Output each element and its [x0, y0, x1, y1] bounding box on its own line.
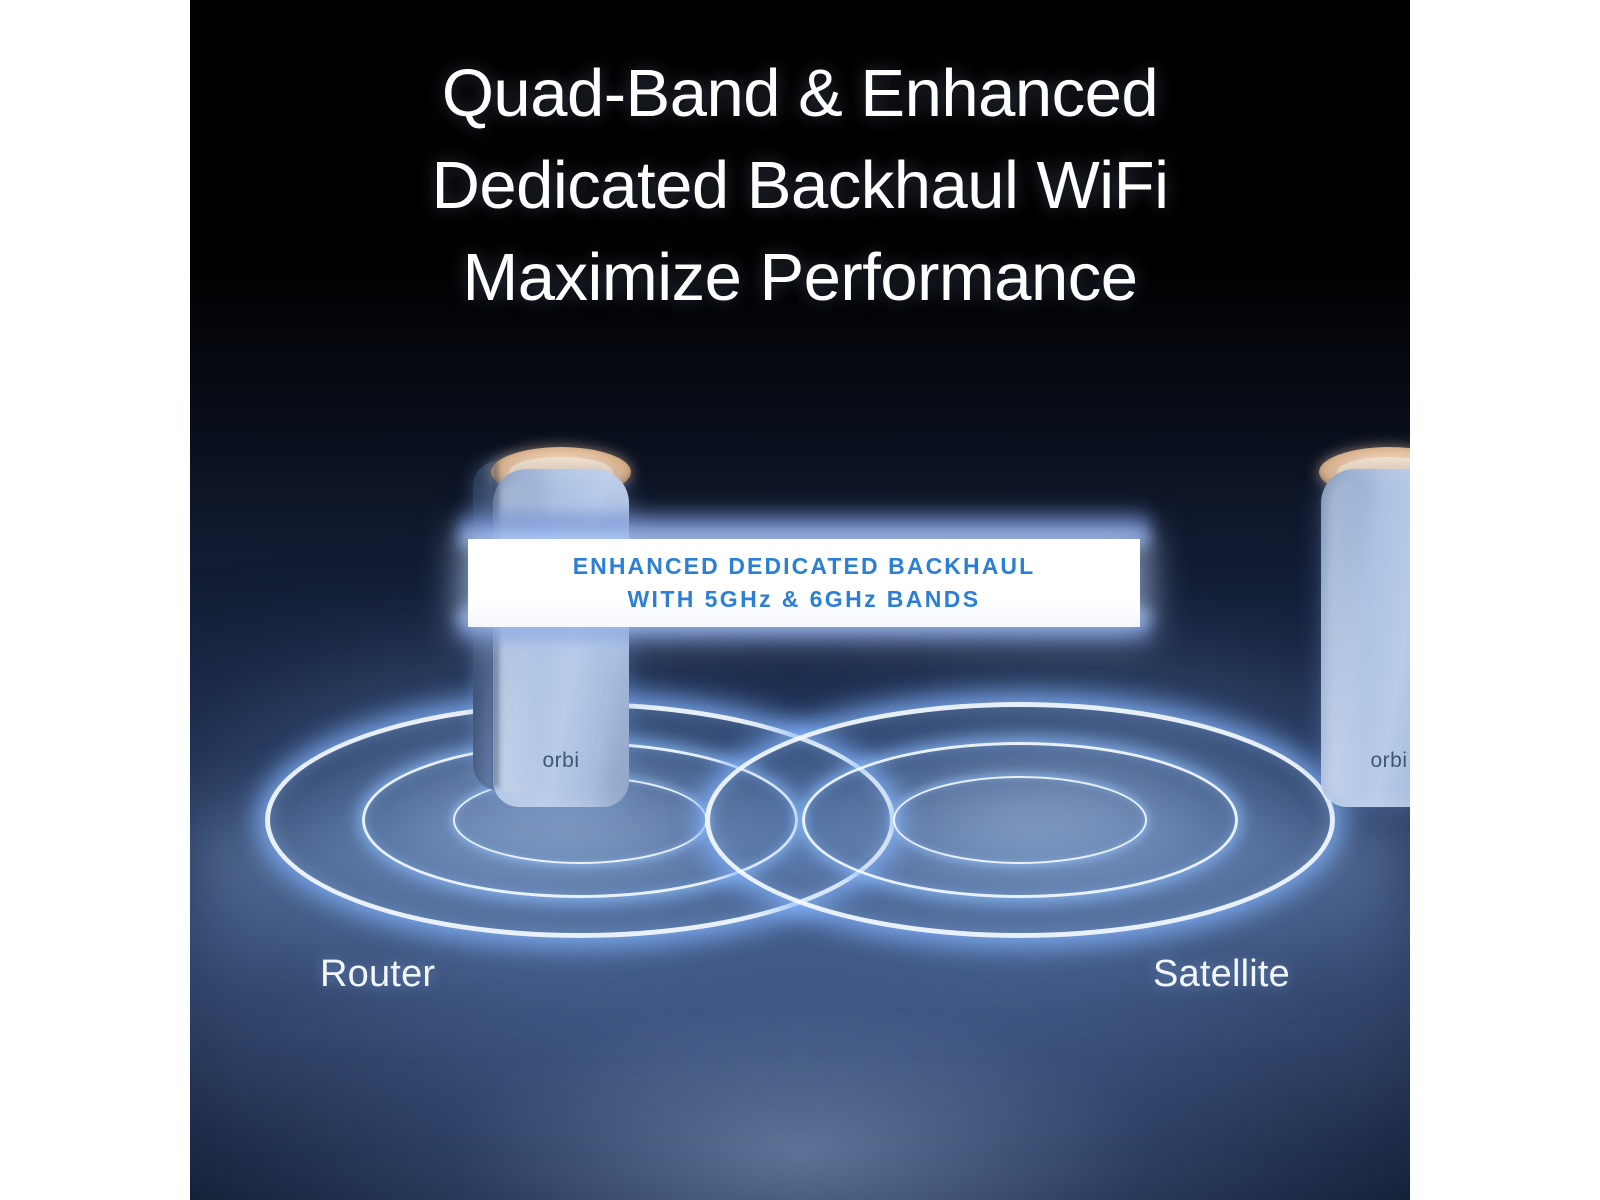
device-satellite: orbi: [1305, 447, 1410, 807]
glow-ring-inner-satellite: [893, 776, 1147, 864]
satellite-brand-logo: orbi: [1321, 749, 1410, 773]
banner-line-1: ENHANCED DEDICATED BACKHAUL: [573, 553, 1036, 580]
backhaul-banner: ENHANCED DEDICATED BACKHAUL WITH 5GHz & …: [468, 512, 1140, 638]
headline-text: Quad-Band & Enhanced Dedicated Backhaul …: [190, 48, 1410, 324]
base-glow-satellite: [700, 695, 1340, 945]
satellite-front-face: orbi: [1321, 469, 1410, 807]
label-router: Router: [320, 953, 435, 996]
glow-ring-outer-satellite: [705, 702, 1335, 938]
glow-ring-middle-satellite: [802, 742, 1238, 898]
banner-line-2: WITH 5GHz & 6GHz BANDS: [627, 586, 980, 613]
page-canvas: Quad-Band & Enhanced Dedicated Backhaul …: [0, 0, 1600, 1200]
banner-text-block: ENHANCED DEDICATED BACKHAUL WITH 5GHz & …: [468, 539, 1140, 627]
label-satellite: Satellite: [1153, 953, 1290, 996]
router-brand-logo: orbi: [493, 749, 629, 773]
glow-rings-satellite: [670, 660, 1370, 980]
marketing-scene: Quad-Band & Enhanced Dedicated Backhaul …: [190, 0, 1410, 1200]
